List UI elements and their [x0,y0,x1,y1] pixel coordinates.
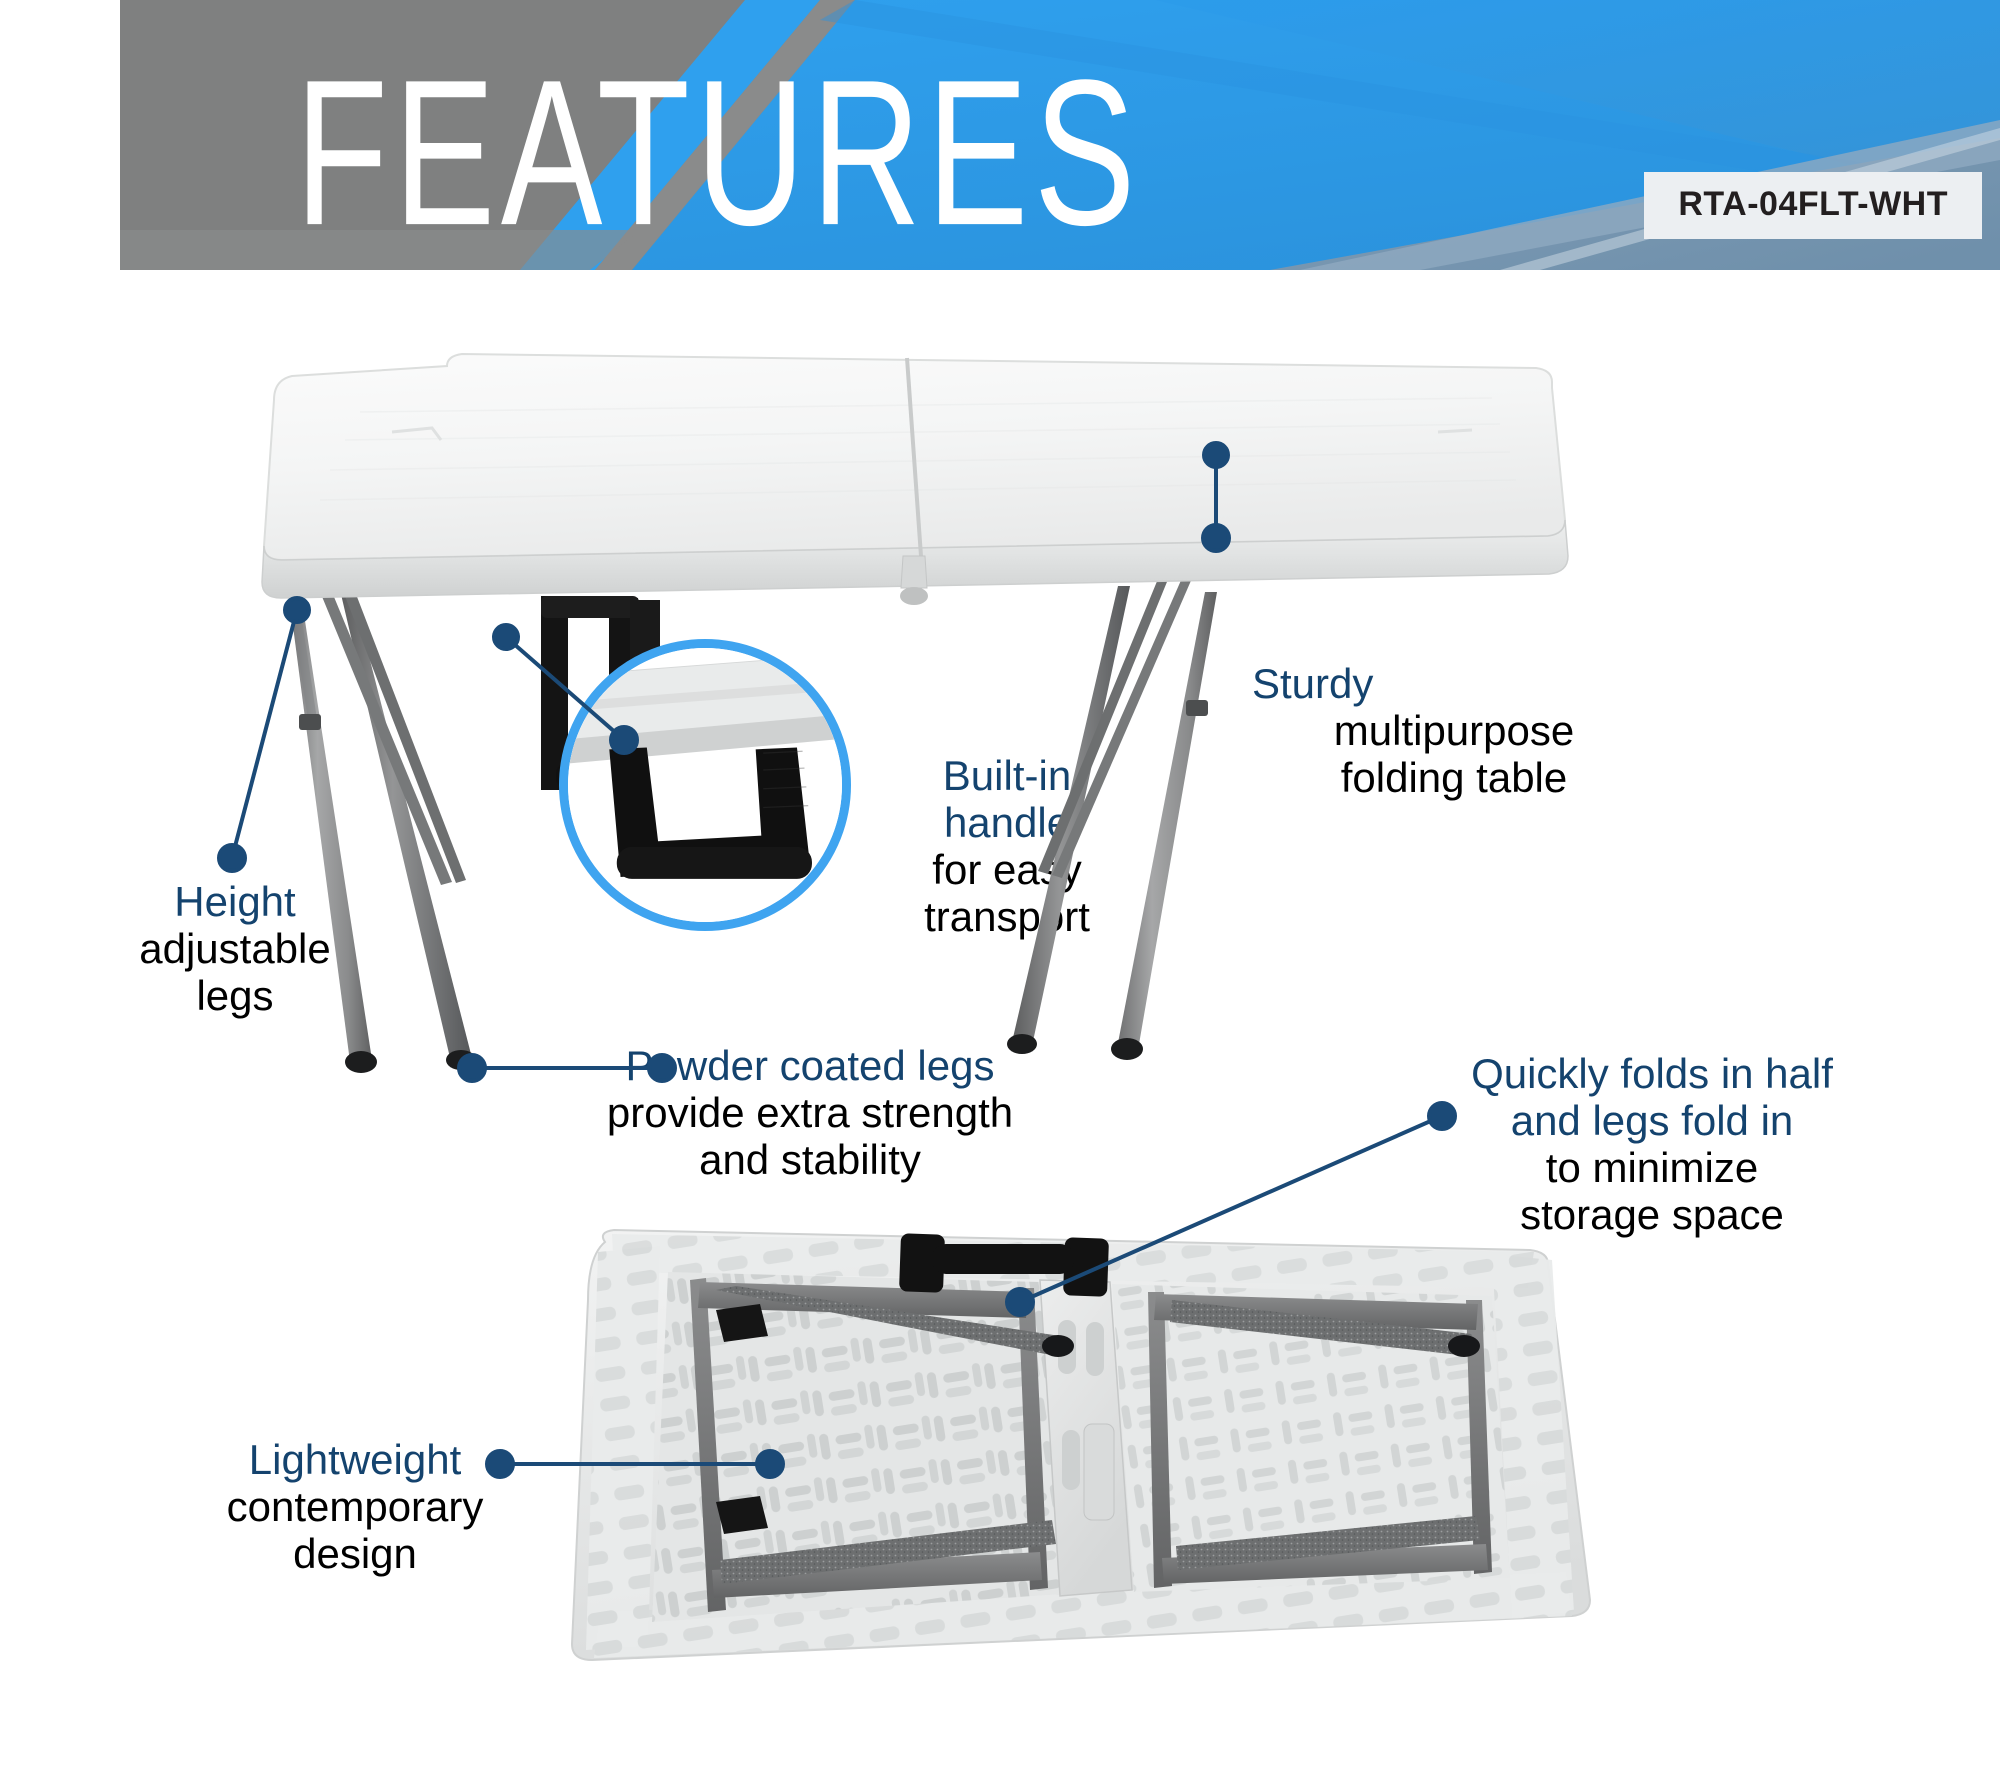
folded-table-photo [572,1230,1590,1660]
product-artwork [0,0,2000,1778]
open-table-photo [262,354,1568,1073]
handle-magnifier-circle [559,639,851,931]
handle-detail-image [568,648,842,922]
infographic-page: FEATURES RTA-04FLT-WHT [0,0,2000,1778]
